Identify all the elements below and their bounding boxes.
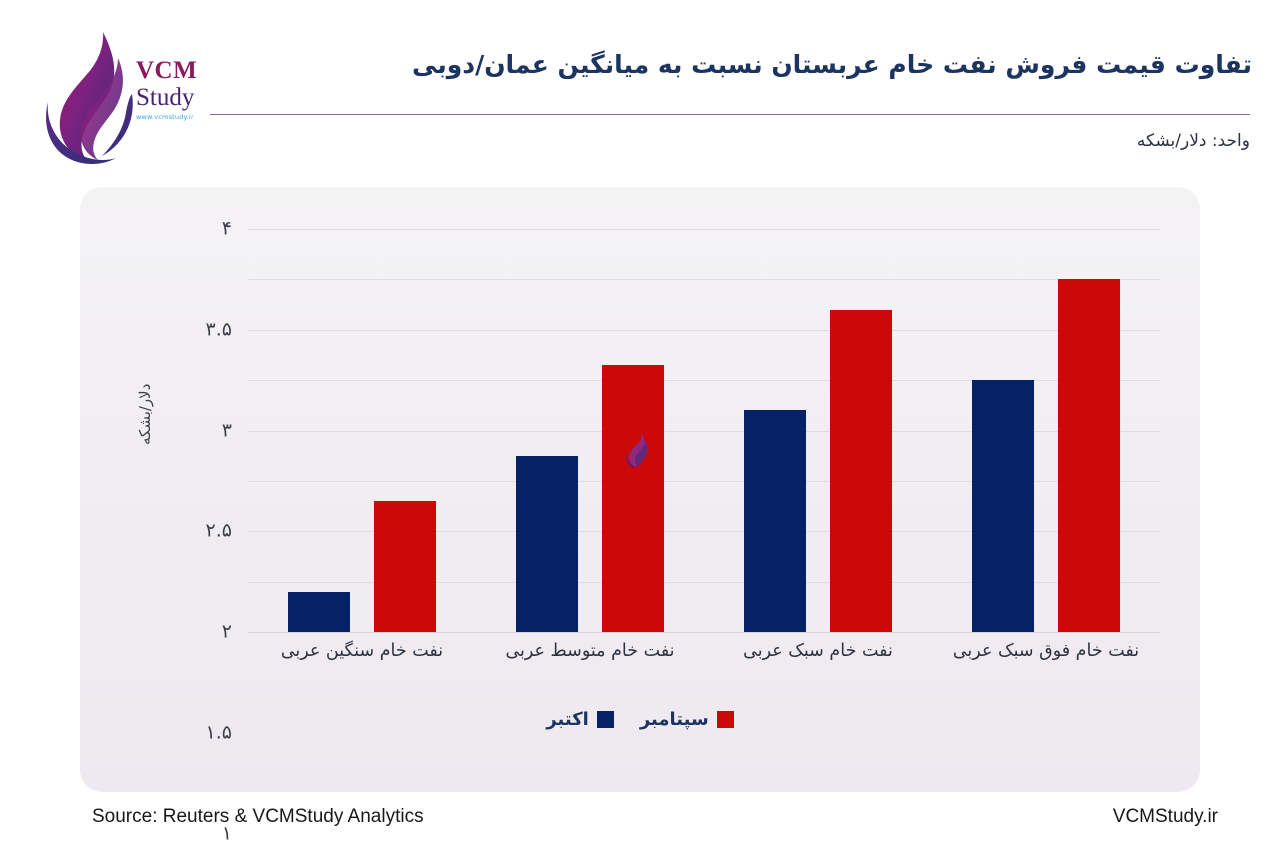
bar[interactable] <box>1058 279 1120 632</box>
source-text: Source: Reuters & VCMStudy Analytics <box>92 806 424 828</box>
bar[interactable] <box>516 456 578 632</box>
bar[interactable] <box>972 380 1034 632</box>
x-axis-category-label: نفت خام متوسط عربی <box>476 639 704 664</box>
logo-name-top: VCM <box>136 58 214 83</box>
bar-group <box>248 229 476 632</box>
bar[interactable] <box>602 365 664 632</box>
legend-label: سپتامبر <box>640 709 709 730</box>
vcmstudy-logo: VCM Study www.vcmstudy.ir <box>36 26 212 168</box>
legend-swatch <box>597 711 614 728</box>
logo-name-bottom: Study <box>136 84 214 111</box>
bar-group <box>704 229 932 632</box>
flame-logo-icon <box>40 28 144 166</box>
y-axis-tick-label: ۲.۵ <box>206 520 232 542</box>
plot-area: ۴۳.۵۳۲.۵۲۱.۵۱۰.۵۰ <box>248 229 1160 632</box>
chart-title-text: تفاوت قیمت فروش نفت خام عربستان نسبت به … <box>252 48 1252 82</box>
x-axis-category-label: نفت خام سنگین عربی <box>248 639 476 664</box>
bar-group <box>476 229 704 632</box>
page-header: VCM Study www.vcmstudy.ir تفاوت قیمت فرو… <box>0 0 1280 180</box>
x-axis-labels: نفت خام فوق سبک عربینفت خام سبک عربینفت … <box>248 639 1160 664</box>
bar-group <box>932 229 1160 632</box>
bar[interactable] <box>374 501 436 632</box>
gridline: ۰ <box>248 632 1160 633</box>
y-axis-tick-label: ۳.۵ <box>206 318 232 340</box>
unit-note: واحد: دلار/بشکه <box>1137 131 1250 151</box>
x-axis-category-label: نفت خام سبک عربی <box>704 639 932 664</box>
title-divider <box>210 114 1250 115</box>
y-axis-tick-label: ۴ <box>222 218 232 240</box>
site-text: VCMStudy.ir <box>1113 806 1218 828</box>
y-axis-tick-label: ۲ <box>222 621 232 643</box>
legend-item[interactable]: اکتبر <box>546 709 614 730</box>
y-axis-title: دلار/بشکه <box>136 384 154 445</box>
y-axis-tick-label: ۳ <box>222 419 232 441</box>
chart-legend: سپتامبراکتبر <box>80 709 1200 730</box>
x-axis-category-label: نفت خام فوق سبک عربی <box>932 639 1160 664</box>
legend-item[interactable]: سپتامبر <box>640 709 734 730</box>
bar[interactable] <box>830 310 892 632</box>
page-footer: Source: Reuters & VCMStudy Analytics VCM… <box>0 800 1280 853</box>
bar[interactable] <box>288 592 350 632</box>
bar-groups <box>248 229 1160 632</box>
chart-page: VCM Study www.vcmstudy.ir تفاوت قیمت فرو… <box>0 0 1280 853</box>
chart-panel: دلار/بشکه ۴۳.۵۳۲.۵۲۱.۵۱۰.۵۰ نفت خام فوق … <box>80 187 1200 792</box>
logo-wordmark: VCM Study www.vcmstudy.ir <box>136 58 214 121</box>
page-title: تفاوت قیمت فروش نفت خام عربستان نسبت به … <box>252 48 1252 82</box>
logo-url: www.vcmstudy.ir <box>136 113 214 121</box>
legend-label: اکتبر <box>546 709 589 730</box>
bar[interactable] <box>744 410 806 632</box>
legend-swatch <box>717 711 734 728</box>
